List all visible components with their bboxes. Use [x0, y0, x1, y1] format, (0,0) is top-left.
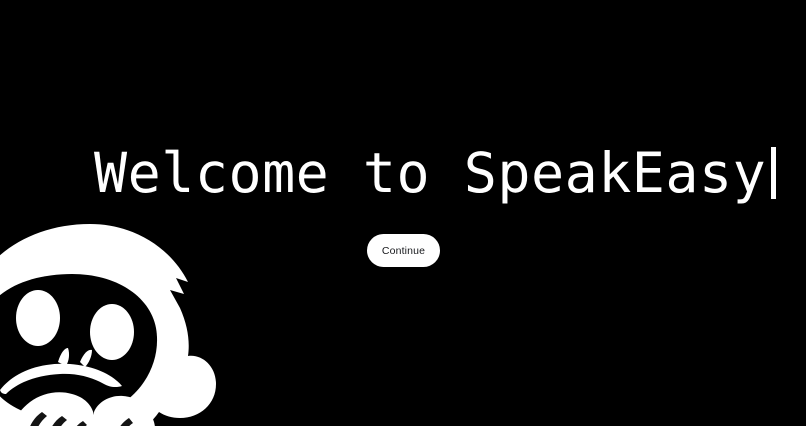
typing-caret-icon	[771, 147, 776, 199]
speakeasy-welcome-screen: Welcome to SpeakEasy Continue	[0, 0, 806, 426]
hero-headline: Welcome to SpeakEasy	[94, 138, 776, 208]
monkey-left-eye	[16, 290, 60, 346]
speak-no-evil-monkey-icon	[0, 222, 218, 426]
page-title: Welcome to SpeakEasy	[94, 142, 766, 204]
monkey-right-eye	[90, 304, 134, 360]
continue-button[interactable]: Continue	[367, 234, 440, 267]
